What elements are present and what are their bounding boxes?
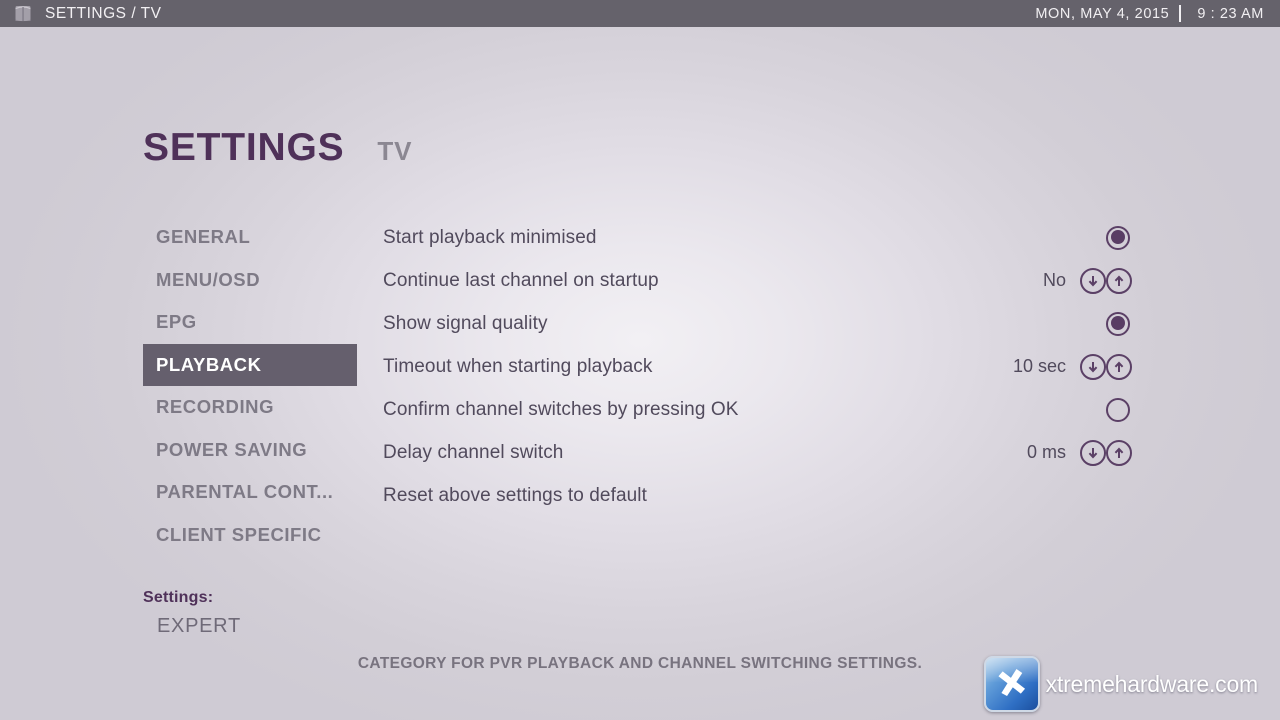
watermark-text: xtremehardware.com <box>1046 671 1258 698</box>
settings-level-indicator: Settings: EXPERT <box>143 589 241 638</box>
setting-value: 0 ms <box>1027 442 1066 463</box>
setting-label: Reset above settings to default <box>383 485 647 507</box>
setting-control <box>1106 302 1143 345</box>
setting-row-continue-last-channel[interactable]: Continue last channel on startup No <box>383 259 1143 302</box>
setting-row-start-playback-minimised[interactable]: Start playback minimised <box>383 216 1143 259</box>
setting-control: No <box>1043 259 1143 302</box>
toggle-radio-show-signal-quality[interactable] <box>1106 312 1130 336</box>
setting-label: Confirm channel switches by pressing OK <box>383 399 739 421</box>
setting-value: No <box>1043 270 1066 291</box>
page-title: SETTINGS TV <box>143 128 412 167</box>
sidebar-item-recording[interactable]: RECORDING <box>143 386 357 429</box>
setting-label: Timeout when starting playback <box>383 356 652 378</box>
titlebar-time: 9 : 23 AM <box>1197 6 1264 22</box>
settings-list: Start playback minimised Continue last c… <box>383 216 1143 517</box>
sidebar-item-parental-control[interactable]: PARENTAL CONT... <box>143 471 357 514</box>
setting-label: Show signal quality <box>383 313 548 335</box>
setting-row-confirm-channel-switches[interactable]: Confirm channel switches by pressing OK <box>383 388 1143 431</box>
toggle-radio-confirm-channel-switches[interactable] <box>1106 398 1130 422</box>
sidebar-item-playback[interactable]: PLAYBACK <box>143 344 357 387</box>
sidebar-item-general[interactable]: GENERAL <box>143 216 357 259</box>
spinner-timeout-starting-playback <box>1080 354 1132 380</box>
sidebar-item-label: GENERAL <box>156 226 250 248</box>
arrow-down-circle-icon[interactable] <box>1080 354 1106 380</box>
settings-level-label: Settings: <box>143 589 241 607</box>
sidebar-item-label: PLAYBACK <box>156 354 261 376</box>
titlebar-date: MON, MAY 4, 2015 <box>1035 6 1169 22</box>
sidebar-item-label: POWER SAVING <box>156 439 307 461</box>
module-cylinder-icon <box>14 4 32 23</box>
settings-level-value: EXPERT <box>157 615 241 638</box>
setting-label: Start playback minimised <box>383 227 597 249</box>
setting-label: Delay channel switch <box>383 442 563 464</box>
arrow-down-circle-icon[interactable] <box>1080 440 1106 466</box>
title-bar: SETTINGS / TV MON, MAY 4, 2015 9 : 23 AM <box>0 0 1280 27</box>
sidebar-item-label: PARENTAL CONT... <box>156 481 333 503</box>
sidebar-item-power-saving[interactable]: POWER SAVING <box>143 429 357 472</box>
arrow-up-circle-icon[interactable] <box>1106 268 1132 294</box>
category-nav: GENERAL MENU/OSD EPG PLAYBACK RECORDING … <box>143 216 357 556</box>
sidebar-item-label: CLIENT SPECIFIC <box>156 524 322 546</box>
sidebar-item-label: RECORDING <box>156 396 274 418</box>
sidebar-item-client-specific[interactable]: CLIENT SPECIFIC <box>143 514 357 557</box>
arrow-down-circle-icon[interactable] <box>1080 268 1106 294</box>
sidebar-item-label: EPG <box>156 311 197 333</box>
setting-control <box>1106 388 1143 431</box>
tv-settings-screen: SETTINGS / TV MON, MAY 4, 2015 9 : 23 AM… <box>0 0 1280 720</box>
setting-control: 0 ms <box>1027 431 1143 474</box>
page-title-sub: TV <box>377 138 412 164</box>
setting-value: 10 sec <box>1013 356 1066 377</box>
toggle-radio-start-playback-minimised[interactable] <box>1106 226 1130 250</box>
setting-label: Continue last channel on startup <box>383 270 659 292</box>
setting-row-timeout-starting-playback[interactable]: Timeout when starting playback 10 sec <box>383 345 1143 388</box>
setting-control: 10 sec <box>1013 345 1143 388</box>
spinner-continue-last-channel <box>1080 268 1132 294</box>
spinner-delay-channel-switch <box>1080 440 1132 466</box>
setting-control <box>1106 216 1143 259</box>
sidebar-item-menu-osd[interactable]: MENU/OSD <box>143 259 357 302</box>
titlebar-clock-area: MON, MAY 4, 2015 9 : 23 AM <box>1035 0 1264 27</box>
sidebar-item-label: MENU/OSD <box>156 269 260 291</box>
arrow-up-circle-icon[interactable] <box>1106 440 1132 466</box>
setting-row-show-signal-quality[interactable]: Show signal quality <box>383 302 1143 345</box>
arrow-up-circle-icon[interactable] <box>1106 354 1132 380</box>
watermark: xtremehardware.com <box>984 656 1258 712</box>
x-logo-icon <box>984 656 1040 712</box>
setting-row-delay-channel-switch[interactable]: Delay channel switch 0 ms <box>383 431 1143 474</box>
page-title-main: SETTINGS <box>143 128 344 167</box>
titlebar-divider <box>1179 5 1181 22</box>
sidebar-item-epg[interactable]: EPG <box>143 301 357 344</box>
setting-row-reset-to-default[interactable]: Reset above settings to default <box>383 474 1143 517</box>
titlebar-breadcrumb: SETTINGS / TV <box>45 5 161 23</box>
